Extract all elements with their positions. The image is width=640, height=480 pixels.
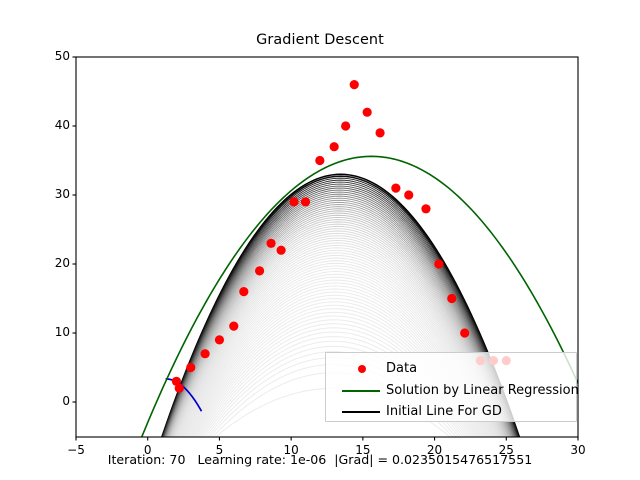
data-point: [404, 190, 413, 199]
legend[interactable]: Data Solution by Linear Regression Initi…: [325, 352, 577, 422]
data-point: [255, 266, 264, 275]
data-point: [447, 294, 456, 303]
legend-marker-dot: [340, 357, 382, 380]
data-point: [363, 108, 372, 117]
legend-marker-black-line: [340, 400, 382, 423]
legend-label-initial-line: Initial Line For GD: [386, 402, 502, 421]
legend-item-regression: Solution by Linear Regression: [326, 379, 578, 402]
data-point: [341, 121, 350, 130]
data-point: [186, 363, 195, 372]
matplotlib-figure: Gradient Descent 01020304050 −5051015202…: [0, 0, 640, 480]
data-point: [421, 204, 430, 213]
status-text: Iteration: 70 Learning rate: 1e-06 |Grad…: [0, 452, 640, 467]
y-tick-label: 30: [28, 187, 70, 201]
data-point: [200, 349, 209, 358]
legend-item-data: Data: [326, 357, 578, 380]
data-point: [350, 80, 359, 89]
y-tick-label: 0: [28, 394, 70, 408]
data-point: [175, 384, 184, 393]
data-point: [391, 184, 400, 193]
legend-label-regression: Solution by Linear Regression: [386, 381, 579, 400]
data-point: [460, 328, 469, 337]
legend-item-initial-line: Initial Line For GD: [326, 400, 578, 423]
data-point: [301, 197, 310, 206]
data-point: [289, 197, 298, 206]
y-tick-label: 50: [28, 49, 70, 63]
y-tick-label: 20: [28, 256, 70, 270]
data-point: [266, 239, 275, 248]
data-point: [375, 128, 384, 137]
y-tick-label: 10: [28, 325, 70, 339]
data-point: [229, 322, 238, 331]
data-point: [215, 335, 224, 344]
legend-marker-green-line: [340, 379, 382, 402]
data-point: [277, 246, 286, 255]
data-point: [315, 156, 324, 165]
data-point: [434, 259, 443, 268]
data-point: [330, 142, 339, 151]
y-tick-label: 40: [28, 118, 70, 132]
data-point: [239, 287, 248, 296]
legend-label-data: Data: [386, 359, 417, 378]
